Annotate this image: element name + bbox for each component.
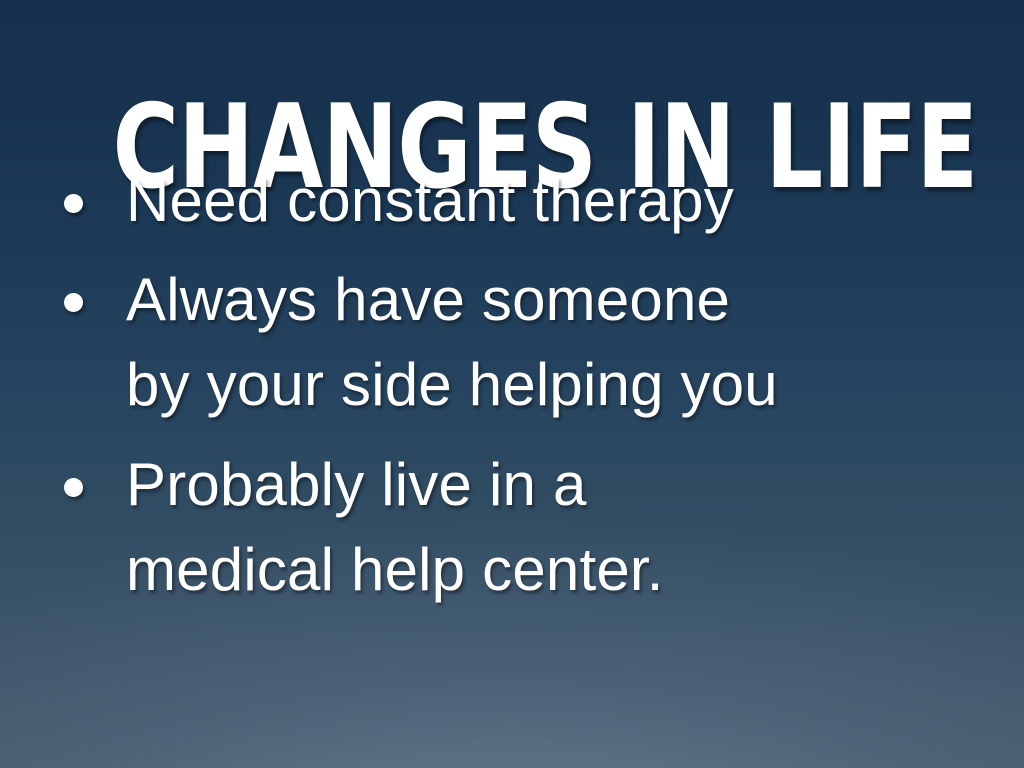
list-item: Always have someone by your side helping… bbox=[56, 257, 984, 427]
bullet-line: Need constant therapy bbox=[126, 158, 984, 243]
presentation-slide: CHANGES IN LIFE Need constant therapy Al… bbox=[0, 0, 1024, 768]
bullet-line: Always have someone bbox=[126, 257, 984, 342]
list-item: Probably live in a medical help center. bbox=[56, 442, 984, 612]
bullet-dot-icon bbox=[64, 293, 83, 312]
bullet-line: medical help center. bbox=[126, 527, 984, 612]
bullet-line: Probably live in a bbox=[126, 442, 984, 527]
bullet-list: Need constant therapy Always have someon… bbox=[56, 158, 984, 626]
slide-content: CHANGES IN LIFE Need constant therapy Al… bbox=[0, 0, 1024, 768]
bullet-dot-icon bbox=[64, 478, 83, 497]
bullet-dot-icon bbox=[64, 194, 83, 213]
bullet-line: by your side helping you bbox=[126, 342, 984, 427]
list-item: Need constant therapy bbox=[56, 158, 984, 243]
